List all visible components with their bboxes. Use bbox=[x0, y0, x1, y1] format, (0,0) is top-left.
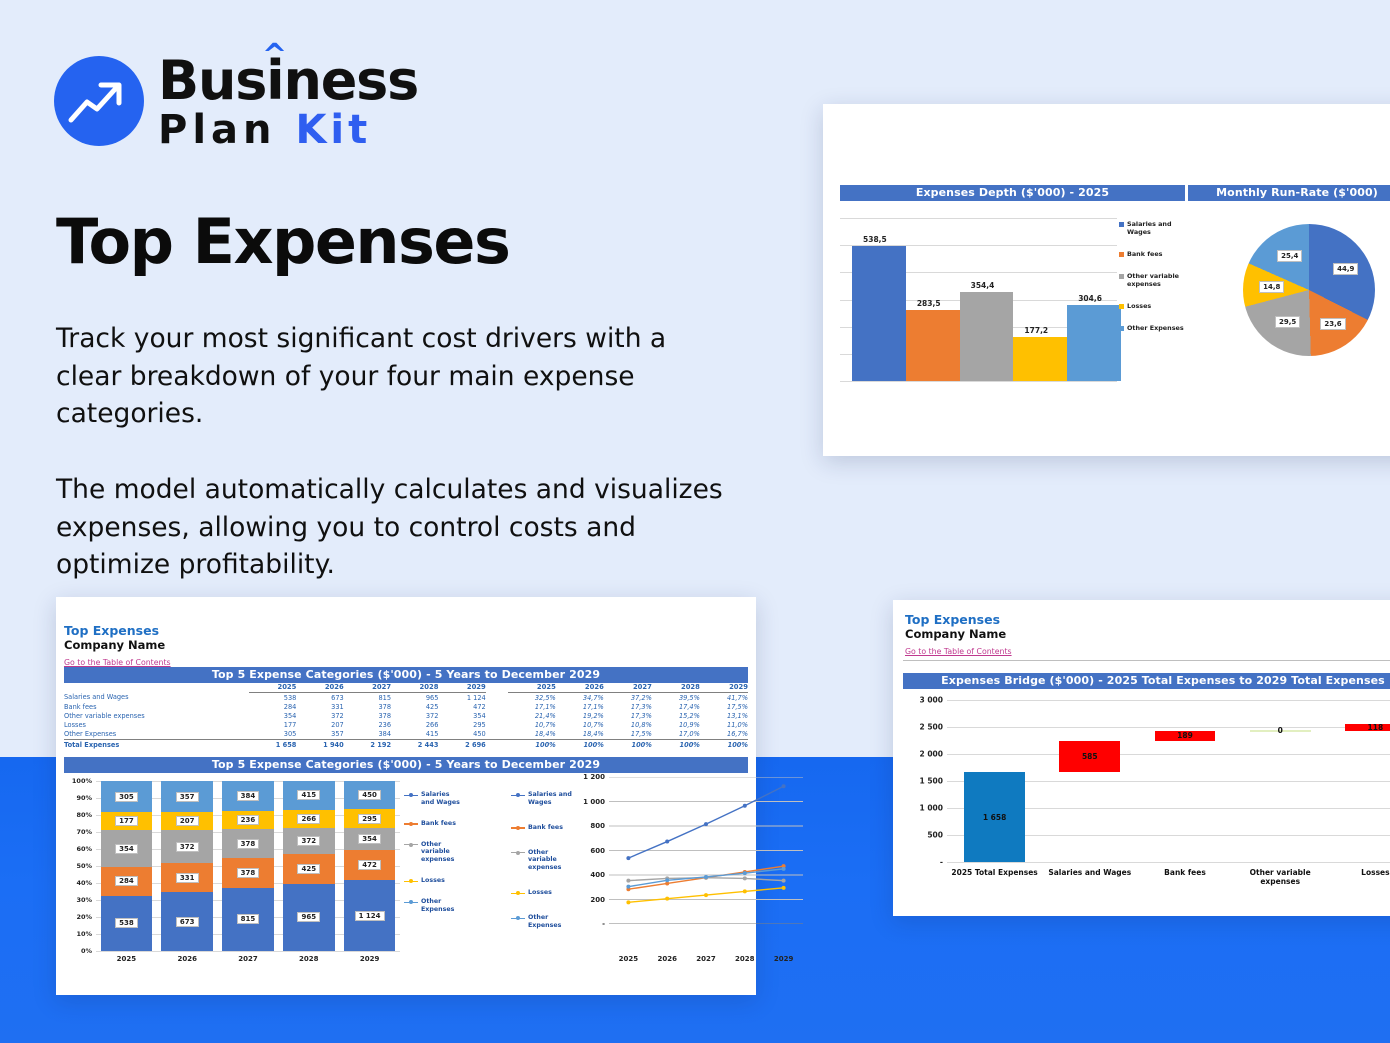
table-cell-percent: 17,0% bbox=[652, 730, 700, 740]
band-expenses-bridge: Expenses Bridge ($'000) - 2025 Total Exp… bbox=[903, 673, 1390, 689]
legend-item: Bank fees bbox=[1119, 250, 1185, 258]
axis-tick-label: 80% bbox=[76, 811, 92, 819]
stack-segment: 354 bbox=[101, 830, 153, 866]
table-total-row: Total Expenses1 6581 9402 1922 4432 6961… bbox=[64, 739, 748, 750]
legend-label: Other variable expenses bbox=[421, 841, 464, 865]
table-cell: 295 bbox=[438, 721, 485, 730]
table-cell-percent: 17,5% bbox=[604, 730, 652, 740]
pie-slice-label: 14,8 bbox=[1259, 281, 1284, 293]
pie-slice-label: 25,4 bbox=[1277, 250, 1302, 262]
table-cell: 354 bbox=[249, 711, 296, 720]
axis-tick-label: - bbox=[940, 858, 943, 867]
table-cell: 1 124 bbox=[438, 693, 485, 703]
bar-value-label: 538,5 bbox=[848, 235, 902, 244]
segment-value-label: 815 bbox=[237, 914, 260, 924]
stack-segment: 266 bbox=[283, 810, 335, 829]
axis-tick-label: 400 bbox=[590, 871, 605, 879]
brand-name-line1: Business bbox=[158, 49, 418, 112]
row-label: Other Expenses bbox=[64, 730, 249, 740]
table-cell: 815 bbox=[344, 693, 391, 703]
table-cell: 331 bbox=[296, 702, 343, 711]
band-top5-table: Top 5 Expense Categories ($'000) - 5 Yea… bbox=[64, 667, 748, 683]
table-cell: 354 bbox=[438, 711, 485, 720]
pie-slice-label: 23,6 bbox=[1320, 318, 1345, 330]
stack-segment: 236 bbox=[222, 811, 274, 829]
axis-category-label: Losses bbox=[1328, 868, 1390, 877]
table-cell: 425 bbox=[391, 702, 438, 711]
legend-item: Salaries and Wages bbox=[1119, 220, 1185, 236]
stack-segment: 472 bbox=[344, 850, 396, 880]
table-cell: 284 bbox=[249, 702, 296, 711]
table-cell: 384 bbox=[344, 730, 391, 740]
legend-swatch bbox=[1119, 326, 1124, 331]
segment-value-label: 357 bbox=[176, 792, 199, 802]
table-cell: 236 bbox=[344, 721, 391, 730]
legend-item: Other variable expenses bbox=[511, 849, 573, 873]
expenses-depth-panel: Expenses Depth ($'000) - 2025 Monthly Ru… bbox=[823, 104, 1390, 456]
table-cell-percent: 16,7% bbox=[700, 730, 748, 740]
stack-segment: 538 bbox=[101, 896, 153, 951]
stack-segment: 372 bbox=[161, 830, 213, 863]
pie-slice-label: 44,9 bbox=[1333, 263, 1358, 275]
bar-column: 354,4 bbox=[956, 218, 1010, 381]
axis-category-label: 2025 bbox=[609, 955, 648, 963]
band-expenses-depth: Expenses Depth ($'000) - 2025 bbox=[840, 185, 1185, 201]
table-year-header: 2028 bbox=[391, 683, 438, 693]
stack-segment: 357 bbox=[161, 781, 213, 812]
table-of-contents-link[interactable]: Go to the Table of Contents bbox=[64, 658, 171, 667]
table-cell-percent: 100% bbox=[652, 739, 700, 750]
table-cell-percent: 21,4% bbox=[508, 711, 556, 720]
axis-tick-label: 30% bbox=[76, 896, 92, 904]
expense-table: 2025202620272028202920252026202720282029… bbox=[64, 683, 748, 750]
stacked-column: 4502953544721 124 bbox=[344, 781, 396, 951]
top-expenses-worksheet: Top Expenses Company Name Go to the Tabl… bbox=[56, 597, 756, 995]
legend-marker bbox=[404, 792, 418, 798]
waterfall-bar: 0 bbox=[1250, 730, 1311, 732]
segment-value-label: 305 bbox=[115, 792, 138, 802]
legend-item: Salaries and Wages bbox=[404, 791, 464, 807]
table-year-header: 2027 bbox=[604, 683, 652, 693]
waterfall-bar: 1 658 bbox=[964, 772, 1025, 862]
segment-value-label: 236 bbox=[237, 815, 260, 825]
axis-tick-label: 90% bbox=[76, 794, 92, 802]
table-cell: 372 bbox=[296, 711, 343, 720]
legend-label: Salaries and Wages bbox=[528, 791, 573, 807]
axis-category-label: 2029 bbox=[344, 955, 396, 963]
legend-swatch bbox=[1119, 252, 1124, 257]
legend-marker bbox=[404, 821, 418, 827]
stack-segment: 1 124 bbox=[344, 880, 396, 951]
table-year-header: 2026 bbox=[296, 683, 343, 693]
table-cell-percent: 19,2% bbox=[556, 711, 604, 720]
stack-segment: 384 bbox=[222, 781, 274, 811]
waterfall-bar: 189 bbox=[1155, 731, 1216, 741]
legend-item: Other Expenses bbox=[1119, 324, 1185, 332]
hero-paragraph-1: Track your most significant cost drivers… bbox=[56, 320, 736, 433]
segment-value-label: 415 bbox=[297, 790, 320, 800]
bar-rect bbox=[1013, 337, 1067, 381]
stack-segment: 177 bbox=[101, 812, 153, 830]
legend-marker bbox=[511, 825, 525, 831]
stacked-column: 384236378378815 bbox=[222, 781, 274, 951]
band-monthly-run-rate: Monthly Run-Rate ($'000) bbox=[1188, 185, 1390, 201]
row-label: Bank fees bbox=[64, 702, 249, 711]
table-cell-percent: 37,2% bbox=[604, 693, 652, 703]
axis-category-label: 2029 bbox=[764, 955, 803, 963]
worksheet-title: Top Expenses bbox=[64, 623, 171, 638]
axis-tick-label: 1 000 bbox=[920, 804, 944, 813]
legend-label: Bank fees bbox=[421, 820, 456, 828]
table-cell-percent: 34,7% bbox=[556, 693, 604, 703]
axis-category-label: 2026 bbox=[161, 955, 213, 963]
stack-segment: 450 bbox=[344, 781, 396, 809]
table-year-header: 2029 bbox=[438, 683, 485, 693]
stack-segment: 378 bbox=[222, 829, 274, 858]
brand-name-kit: Kit bbox=[295, 107, 371, 153]
axis-tick-label: 200 bbox=[590, 896, 605, 904]
segment-value-label: 295 bbox=[358, 814, 381, 824]
stacked-column: 305177354284538 bbox=[101, 781, 153, 951]
legend-swatch bbox=[1119, 222, 1124, 227]
table-year-header: 2025 bbox=[508, 683, 556, 693]
axis-category-label: 2026 bbox=[648, 955, 687, 963]
axis-tick-label: 1 000 bbox=[583, 798, 605, 806]
segment-value-label: 965 bbox=[297, 912, 320, 922]
legend-label: Salaries and Wages bbox=[1127, 220, 1185, 236]
table-cell: 538 bbox=[249, 693, 296, 703]
table-cell: 2 696 bbox=[438, 739, 485, 750]
legend-label: Other Expenses bbox=[528, 914, 573, 930]
segment-value-label: 472 bbox=[358, 860, 381, 870]
axis-tick-label: 600 bbox=[590, 847, 605, 855]
axis-tick-label: 100% bbox=[72, 777, 92, 785]
row-label: Total Expenses bbox=[64, 739, 249, 750]
legend-item: Losses bbox=[1119, 302, 1185, 310]
table-cell-percent: 17,3% bbox=[604, 702, 652, 711]
row-label: Losses bbox=[64, 721, 249, 730]
axis-tick-label: - bbox=[602, 920, 605, 928]
stacked-column: 357207372331673 bbox=[161, 781, 213, 951]
segment-value-label: 450 bbox=[358, 790, 381, 800]
axis-tick-label: 1 200 bbox=[583, 773, 605, 781]
line-plot-svg bbox=[609, 777, 803, 924]
brand-circumflex-icon: ^ bbox=[262, 41, 286, 71]
table-cell: 1 940 bbox=[296, 739, 343, 750]
stack-segment: 305 bbox=[101, 781, 153, 812]
axis-tick-label: 50% bbox=[76, 862, 92, 870]
table-cell-percent: 100% bbox=[508, 739, 556, 750]
axis-category-label: 2025 Total Expenses bbox=[947, 868, 1042, 877]
axis-tick-label: 60% bbox=[76, 845, 92, 853]
segment-value-label: 673 bbox=[176, 917, 199, 927]
segment-value-label: 354 bbox=[358, 834, 381, 844]
bar-value-label: 354,4 bbox=[956, 281, 1010, 290]
legend-item: Losses bbox=[404, 877, 464, 885]
table-cell-percent: 18,4% bbox=[508, 730, 556, 740]
table-cell: 357 bbox=[296, 730, 343, 740]
expenses-bridge-worksheet: Top Expenses Company Name Go to the Tabl… bbox=[893, 600, 1390, 916]
stack-segment: 331 bbox=[161, 863, 213, 892]
segment-value-label: 372 bbox=[176, 842, 199, 852]
axis-category-label: Other variable expenses bbox=[1233, 868, 1328, 886]
monthly-run-rate-pie-chart: 44,923,629,514,825,4 bbox=[1191, 206, 1390, 381]
table-cell: 305 bbox=[249, 730, 296, 740]
table-cell-percent: 32,5% bbox=[508, 693, 556, 703]
legend-label: Other Expenses bbox=[421, 898, 464, 914]
table-cell-percent: 13,1% bbox=[700, 711, 748, 720]
table-cell: 177 bbox=[249, 721, 296, 730]
brand-logo: Business ^ Plan Kit bbox=[54, 52, 418, 150]
axis-tick-label: 800 bbox=[590, 822, 605, 830]
stack-segment: 965 bbox=[283, 884, 335, 951]
bridge-header: Top Expenses Company Name Go to the Tabl… bbox=[905, 612, 1012, 659]
axis-tick-label: 1 500 bbox=[920, 777, 944, 786]
table-cell-percent: 17,1% bbox=[508, 702, 556, 711]
bridge-table-of-contents-link[interactable]: Go to the Table of Contents bbox=[905, 647, 1012, 656]
axis-category-label: 2027 bbox=[222, 955, 274, 963]
segment-value-label: 425 bbox=[297, 864, 320, 874]
expense-trend-line-chart: Salaries and WagesBank feesOther variabl… bbox=[511, 773, 811, 979]
brand-name-plan: Plan bbox=[158, 107, 277, 153]
legend-label: Bank fees bbox=[528, 824, 563, 832]
legend-marker bbox=[404, 899, 418, 905]
table-cell: 1 658 bbox=[249, 739, 296, 750]
table-year-header: 2027 bbox=[344, 683, 391, 693]
legend-marker bbox=[404, 842, 418, 848]
axis-tick-label: 2 000 bbox=[920, 750, 944, 759]
axis-tick-label: 0% bbox=[81, 947, 92, 955]
table-row: Salaries and Wages5386738159651 12432,5%… bbox=[64, 693, 748, 703]
table-cell-percent: 10,8% bbox=[604, 721, 652, 730]
waterfall-bar: 118 bbox=[1345, 724, 1390, 730]
axis-tick-label: 500 bbox=[927, 831, 943, 840]
bar-value-label: 283,5 bbox=[902, 299, 956, 308]
table-row: Bank fees28433137842547217,1%17,1%17,3%1… bbox=[64, 702, 748, 711]
axis-tick-label: 70% bbox=[76, 828, 92, 836]
worksheet-header: Top Expenses Company Name Go to the Tabl… bbox=[64, 623, 171, 670]
stack-segment: 284 bbox=[101, 867, 153, 896]
segment-value-label: 266 bbox=[297, 814, 320, 824]
bridge-title: Top Expenses bbox=[905, 612, 1012, 627]
table-row: Losses17720723626629510,7%10,7%10,8%10,9… bbox=[64, 721, 748, 730]
band-top5-chart: Top 5 Expense Categories ($'000) - 5 Yea… bbox=[64, 757, 748, 773]
table-cell-percent: 17,3% bbox=[604, 711, 652, 720]
table-cell-percent: 18,4% bbox=[556, 730, 604, 740]
legend-marker bbox=[404, 878, 418, 884]
table-cell-percent: 10,9% bbox=[652, 721, 700, 730]
stack-segment: 425 bbox=[283, 854, 335, 884]
table-year-header: 2026 bbox=[556, 683, 604, 693]
stack-segment: 815 bbox=[222, 888, 274, 951]
table-cell-percent: 100% bbox=[604, 739, 652, 750]
bar-column: 304,6 bbox=[1063, 218, 1117, 381]
legend-item: Salaries and Wages bbox=[511, 791, 573, 807]
segment-value-label: 177 bbox=[115, 816, 138, 826]
stack-segment: 295 bbox=[344, 809, 396, 828]
row-label: Salaries and Wages bbox=[64, 693, 249, 703]
slide-canvas: Business ^ Plan Kit Top Expenses Track y… bbox=[0, 0, 1390, 1043]
stacked-column: 415266372425965 bbox=[283, 781, 335, 951]
axis-tick-label: 10% bbox=[76, 930, 92, 938]
bar-rect bbox=[852, 246, 906, 381]
table-cell: 378 bbox=[344, 711, 391, 720]
bar-column: 177,2 bbox=[1009, 218, 1063, 381]
row-label: Other variable expenses bbox=[64, 711, 249, 720]
worksheet-company: Company Name bbox=[64, 638, 171, 652]
divider bbox=[903, 660, 1390, 661]
waterfall-chart: 3 0002 5002 0001 5001 000500- 1 65858518… bbox=[903, 696, 1390, 894]
bridge-company: Company Name bbox=[905, 627, 1012, 641]
axis-category-label: 2028 bbox=[725, 955, 764, 963]
legend-item: Other Expenses bbox=[404, 898, 464, 914]
axis-category-label: 2027 bbox=[687, 955, 726, 963]
segment-value-label: 207 bbox=[176, 816, 199, 826]
table-row: Other Expenses30535738441545018,4%18,4%1… bbox=[64, 730, 748, 740]
legend-marker bbox=[511, 850, 525, 856]
legend-marker bbox=[511, 792, 525, 798]
legend-label: Bank fees bbox=[1127, 250, 1162, 258]
legend-item: Bank fees bbox=[511, 824, 573, 832]
table-cell-percent: 41,7% bbox=[700, 693, 748, 703]
bar-column: 283,5 bbox=[902, 218, 956, 381]
segment-value-label: 331 bbox=[176, 873, 199, 883]
stack-segment: 354 bbox=[344, 828, 396, 850]
table-cell: 2 443 bbox=[391, 739, 438, 750]
table-cell: 378 bbox=[344, 702, 391, 711]
segment-value-label: 378 bbox=[237, 868, 260, 878]
axis-tick-label: 2 500 bbox=[920, 723, 944, 732]
table-cell: 450 bbox=[438, 730, 485, 740]
table-cell: 472 bbox=[438, 702, 485, 711]
axis-category-label: 2025 bbox=[101, 955, 153, 963]
segment-value-label: 378 bbox=[237, 839, 260, 849]
table-year-header: 2025 bbox=[249, 683, 296, 693]
legend-item: Losses bbox=[511, 889, 573, 897]
legend-marker bbox=[511, 890, 525, 896]
segment-value-label: 372 bbox=[297, 836, 320, 846]
legend-label: Other variable expenses bbox=[1127, 272, 1185, 288]
axis-tick-label: 3 000 bbox=[920, 696, 944, 705]
legend-label: Losses bbox=[528, 889, 552, 897]
table-year-header: 2029 bbox=[700, 683, 748, 693]
segment-value-label: 284 bbox=[115, 876, 138, 886]
table-cell-percent: 15,2% bbox=[652, 711, 700, 720]
table-cell: 673 bbox=[296, 693, 343, 703]
legend-item: Other variable expenses bbox=[1119, 272, 1185, 288]
bar-rect bbox=[906, 310, 960, 381]
expenses-depth-bar-chart: 538,5283,5354,4177,2304,6 Salaries and W… bbox=[840, 206, 1185, 381]
table-cell-percent: 11,0% bbox=[700, 721, 748, 730]
stack-segment: 378 bbox=[222, 858, 274, 887]
table-cell-percent: 100% bbox=[700, 739, 748, 750]
table-cell: 2 192 bbox=[344, 739, 391, 750]
trending-arrow-icon bbox=[54, 56, 144, 146]
waterfall-bar: 585 bbox=[1059, 741, 1120, 773]
stack-segment: 372 bbox=[283, 828, 335, 854]
table-cell: 965 bbox=[391, 693, 438, 703]
legend-item: Other variable expenses bbox=[404, 841, 464, 865]
table-cell-percent: 10,7% bbox=[508, 721, 556, 730]
legend-item: Other Expenses bbox=[511, 914, 573, 930]
legend-marker bbox=[511, 915, 525, 921]
axis-category-label: Bank fees bbox=[1137, 868, 1232, 877]
bar-rect bbox=[960, 292, 1014, 381]
bar-column: 538,5 bbox=[848, 218, 902, 381]
stack-segment: 415 bbox=[283, 781, 335, 810]
page-title: Top Expenses bbox=[56, 205, 509, 278]
axis-category-label: Salaries and Wages bbox=[1042, 868, 1137, 877]
table-cell: 207 bbox=[296, 721, 343, 730]
segment-value-label: 538 bbox=[115, 918, 138, 928]
legend-label: Losses bbox=[421, 877, 445, 885]
legend-label: Losses bbox=[1127, 302, 1151, 310]
hero-paragraph-2: The model automatically calculates and v… bbox=[56, 471, 736, 584]
pie-slice-label: 29,5 bbox=[1275, 316, 1300, 328]
table-cell: 415 bbox=[391, 730, 438, 740]
axis-tick-label: 20% bbox=[76, 913, 92, 921]
bar-value-label: 304,6 bbox=[1063, 294, 1117, 303]
bar-value-label: 177,2 bbox=[1009, 326, 1063, 335]
table-cell-percent: 10,7% bbox=[556, 721, 604, 730]
table-cell-percent: 39,5% bbox=[652, 693, 700, 703]
stack-segment: 673 bbox=[161, 892, 213, 951]
axis-category-label: 2028 bbox=[283, 955, 335, 963]
table-cell-percent: 17,5% bbox=[700, 702, 748, 711]
table-cell-percent: 17,1% bbox=[556, 702, 604, 711]
segment-value-label: 384 bbox=[237, 791, 260, 801]
legend-item: Bank fees bbox=[404, 820, 464, 828]
segment-value-label: 354 bbox=[115, 844, 138, 854]
legend-label: Other Expenses bbox=[1127, 324, 1184, 332]
legend-label: Other variable expenses bbox=[528, 849, 573, 873]
bar-rect bbox=[1067, 305, 1121, 381]
segment-value-label: 1 124 bbox=[355, 911, 385, 921]
stacked-bar-chart: 100%90%80%70%60%50%40%30%20%10%0% 305177… bbox=[66, 773, 464, 979]
table-row: Other variable expenses35437237837235421… bbox=[64, 711, 748, 720]
axis-tick-label: 40% bbox=[76, 879, 92, 887]
table-year-header: 2028 bbox=[652, 683, 700, 693]
table-cell: 266 bbox=[391, 721, 438, 730]
table-cell-percent: 17,4% bbox=[652, 702, 700, 711]
legend-swatch bbox=[1119, 274, 1124, 279]
legend-swatch bbox=[1119, 304, 1124, 309]
table-cell: 372 bbox=[391, 711, 438, 720]
legend-label: Salaries and Wages bbox=[421, 791, 464, 807]
table-cell-percent: 100% bbox=[556, 739, 604, 750]
stack-segment: 207 bbox=[161, 812, 213, 830]
